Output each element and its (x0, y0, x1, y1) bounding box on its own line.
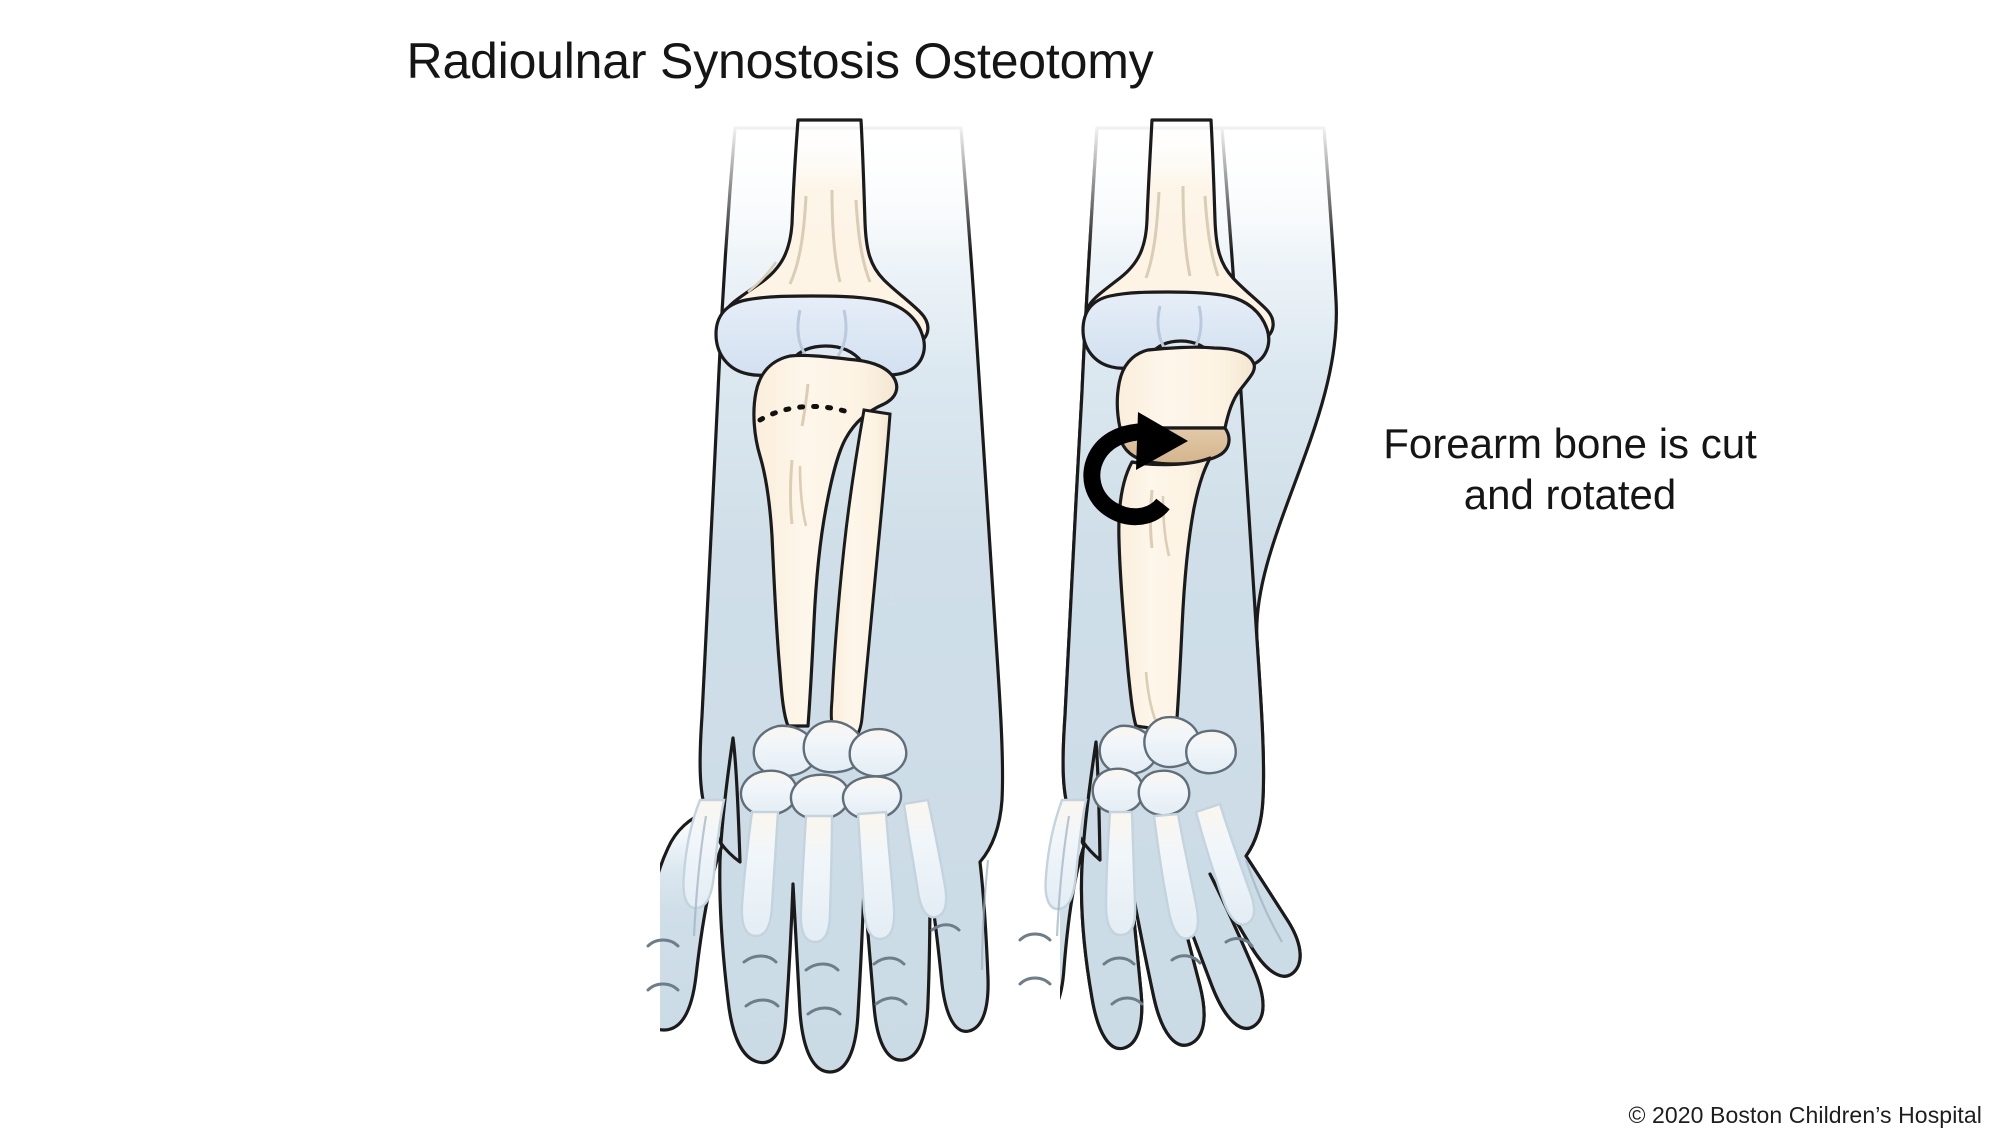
left-elbow-cartilage (716, 296, 924, 375)
left-forearm-bone-second (831, 410, 890, 742)
right-finger-joint-lines (1020, 934, 1252, 1004)
right-metacarpals (1046, 800, 1255, 939)
right-forearm-bone-distal (1119, 458, 1210, 732)
right-elbow-cartilage (1083, 292, 1269, 368)
right-forearm-bone-proximal (1117, 347, 1254, 428)
left-humerus (723, 120, 928, 347)
left-forearm-bone (754, 355, 897, 726)
right-carpal-bones (1093, 717, 1236, 815)
anatomy-artwork (0, 0, 2000, 1141)
left-finger-joint-lines (648, 925, 959, 1014)
osteotomy-cut-surface (1120, 428, 1229, 464)
right-hand-thumb (1014, 812, 1084, 1020)
left-carpal-bones (741, 721, 906, 819)
right-arm-skin-silhouette (1063, 128, 1336, 1049)
rotation-arrow-icon (1092, 412, 1188, 517)
right-forearm-after-panel (1014, 120, 1337, 1049)
right-arm-skin-silhouette-main (1063, 128, 1300, 1049)
left-metacarpals (684, 800, 947, 942)
callout-text: Forearm bone is cut and rotated (1270, 418, 1870, 520)
dotted-cut-line-icon (760, 406, 848, 420)
right-humerus (1086, 120, 1273, 343)
medical-illustration-figure: Radioulnar Synostosis Osteotomy (0, 0, 2000, 1141)
left-forearm-before-panel (639, 120, 1002, 1072)
figure-title: Radioulnar Synostosis Osteotomy (0, 34, 1560, 89)
copyright-notice: © 2020 Boston Children’s Hospital (1628, 1102, 1982, 1129)
left-hand-thumb (639, 812, 722, 1030)
left-arm-skin-silhouette (700, 128, 1002, 1072)
